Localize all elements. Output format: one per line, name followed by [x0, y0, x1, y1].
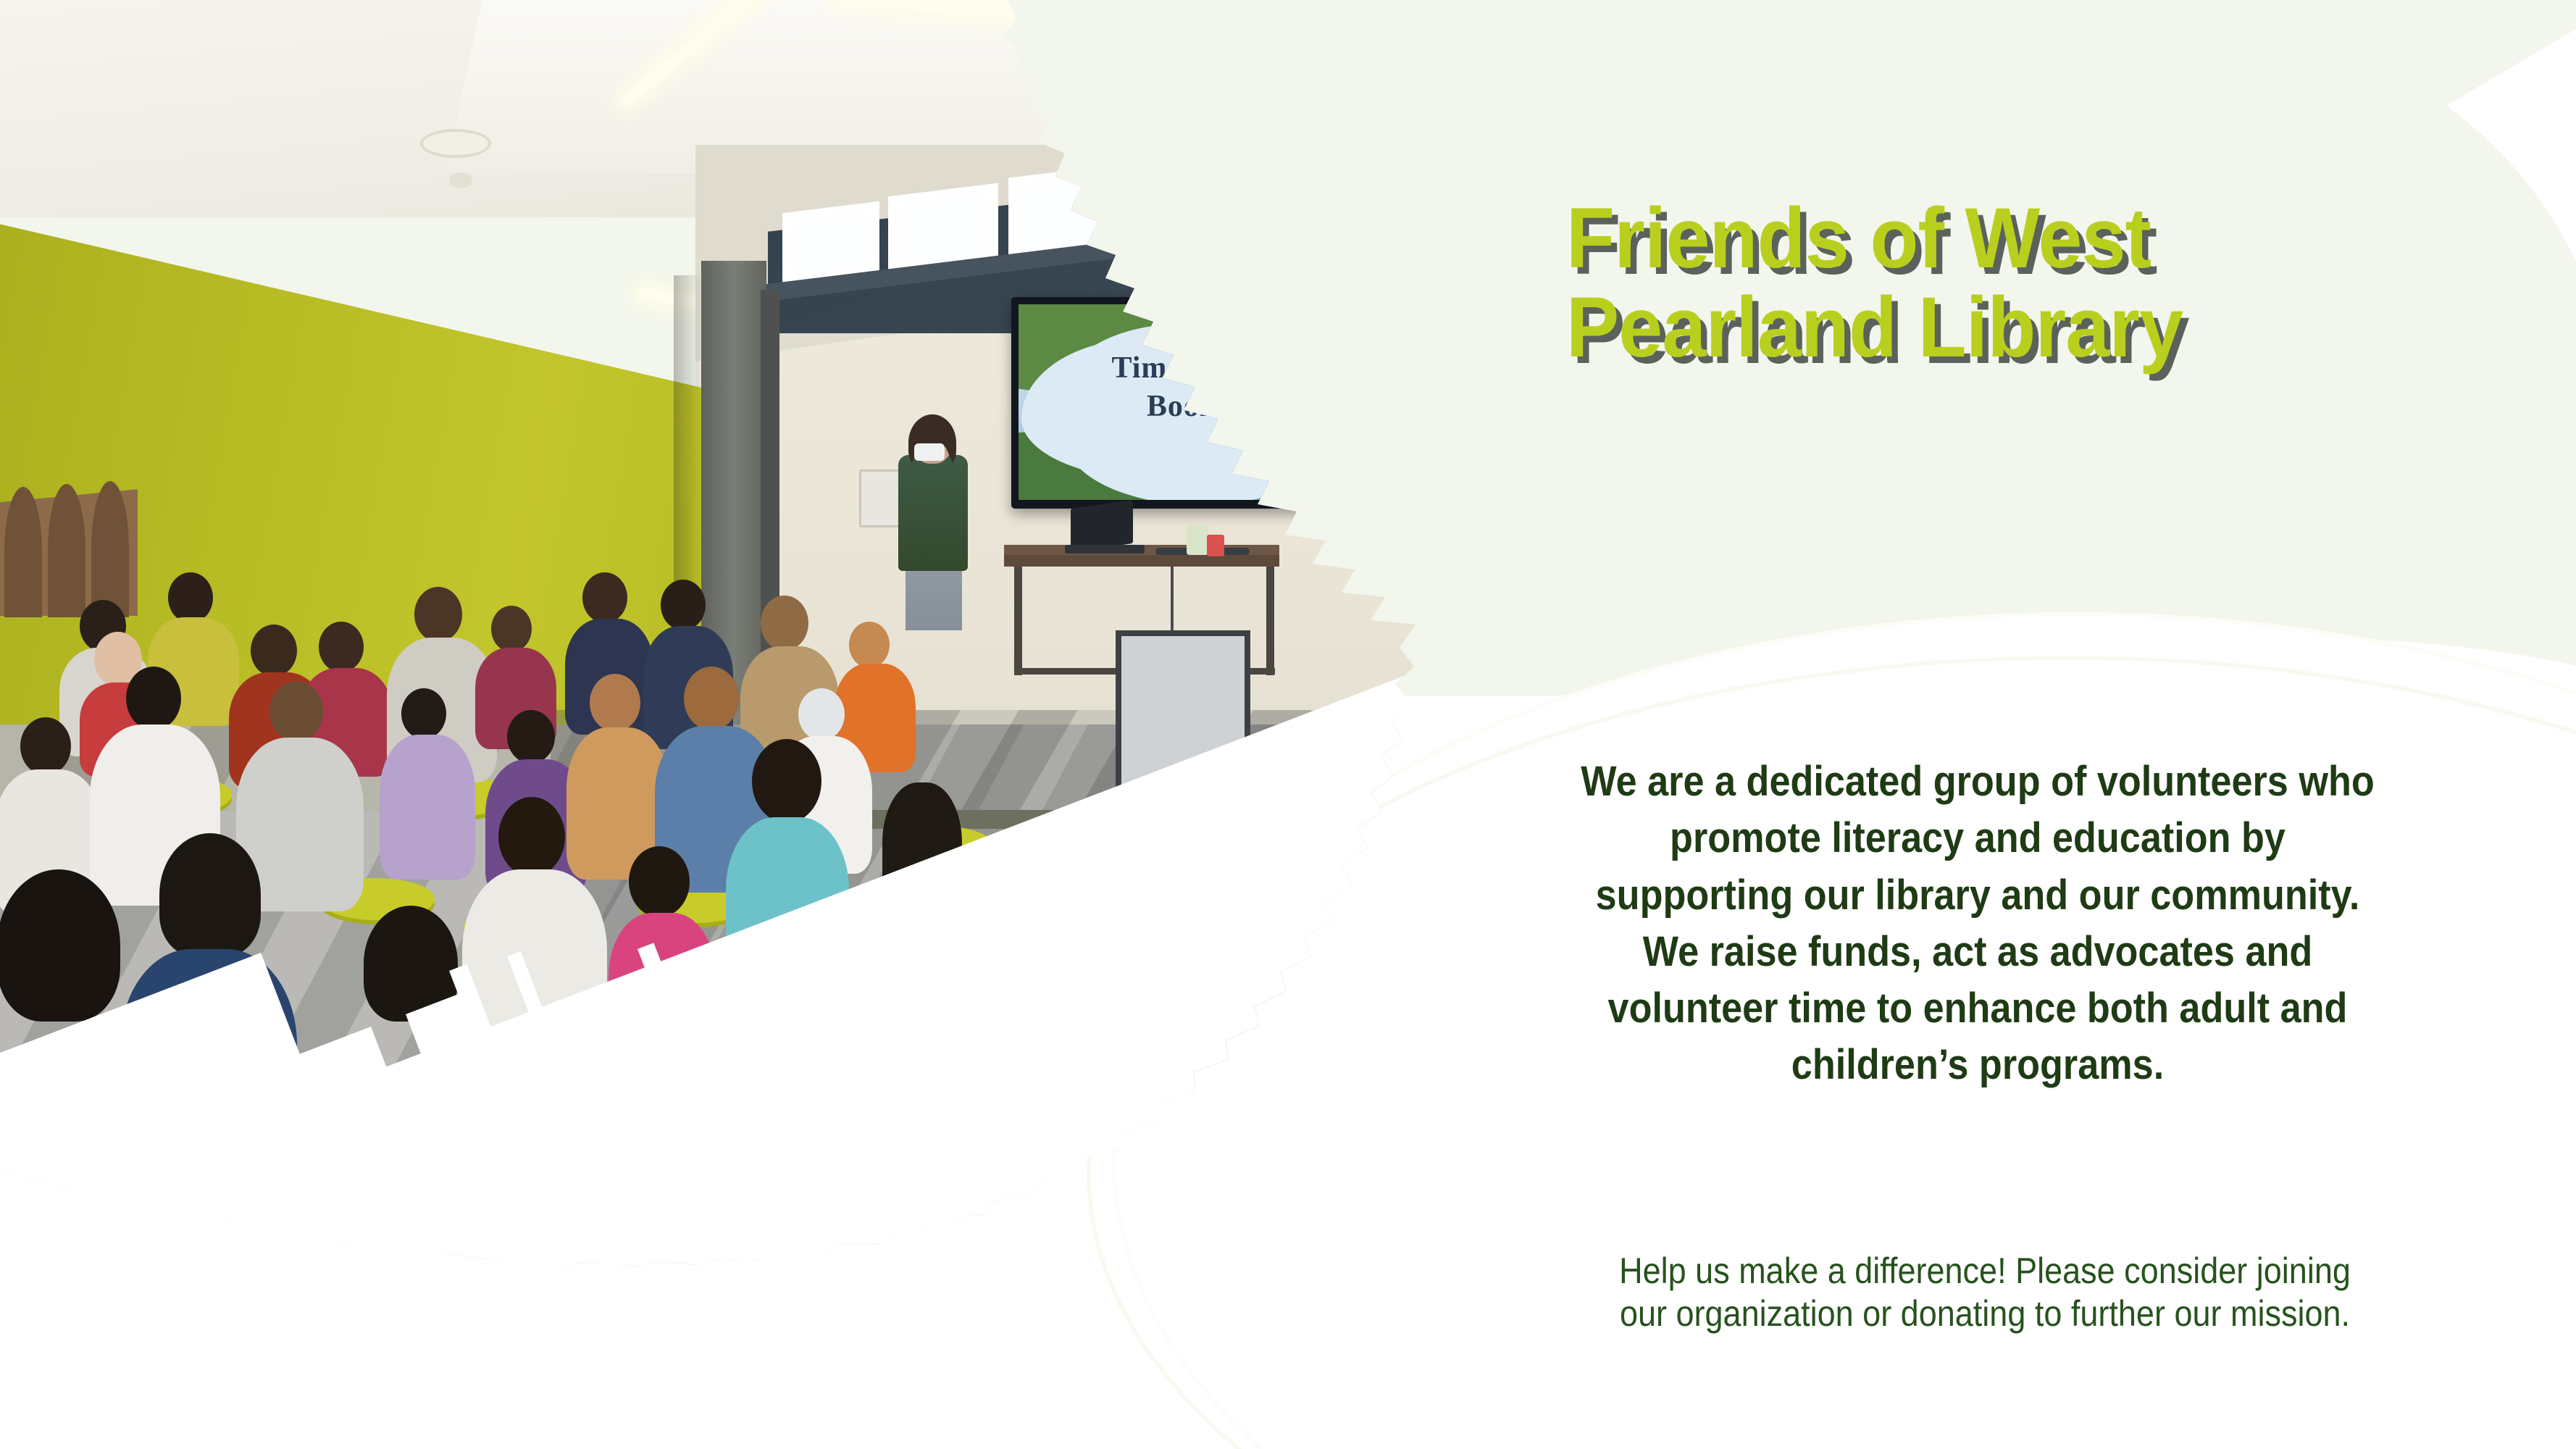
- av-table-leg: [1014, 567, 1022, 675]
- smoke-detector: [449, 172, 472, 188]
- laptop-base: [1065, 545, 1145, 554]
- bookshelf-arch: [4, 487, 42, 617]
- slide-root: Time For a Book!: [0, 0, 2576, 1449]
- call-to-action-line2: our organization or donating to further …: [1568, 1293, 2402, 1335]
- presenter-blazer: [898, 455, 968, 571]
- bookshelf-arch: [91, 481, 129, 617]
- cup: [1187, 525, 1208, 555]
- presenter-face-mask: [914, 443, 945, 461]
- call-to-action-line1: Help us make a difference! Please consid…: [1568, 1250, 2402, 1293]
- mission-statement: We are a dedicated group of volunteers w…: [1567, 753, 2388, 1094]
- ceiling-vent: [420, 129, 491, 158]
- av-table-leg: [1266, 567, 1274, 675]
- av-table: [1004, 555, 1279, 567]
- page-title-line1: Friends of West: [1566, 194, 2415, 283]
- red-object: [1207, 535, 1224, 556]
- page-title-line2: Pearland Library: [1566, 283, 2415, 372]
- call-to-action: Help us make a difference! Please consid…: [1568, 1250, 2402, 1335]
- bookshelf-arch: [48, 484, 85, 617]
- page-title: Friends of West Pearland Library: [1566, 194, 2415, 372]
